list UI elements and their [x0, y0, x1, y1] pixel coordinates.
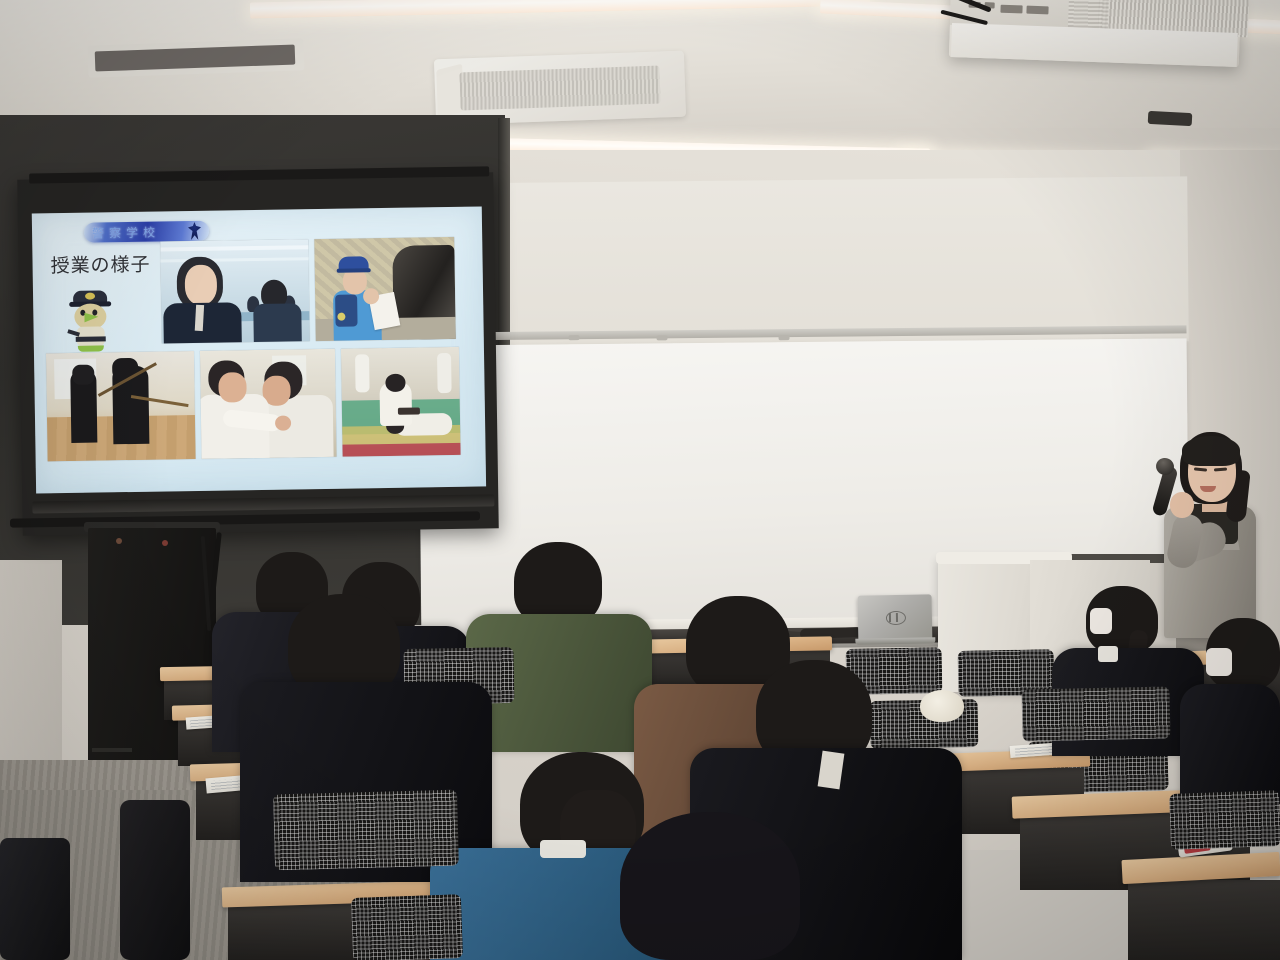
laptop-lid [858, 594, 933, 639]
slide-photo-traffic-stop [314, 237, 456, 341]
whiteboard-clip [568, 335, 579, 340]
slide-banner-label: 警察学校 [92, 223, 200, 242]
audience-head [620, 812, 800, 960]
list-item [1180, 684, 1280, 804]
indicator-led [162, 540, 168, 546]
hp-laptop[interactable] [858, 594, 933, 645]
chair-back[interactable] [273, 790, 459, 871]
ceiling-projector [949, 0, 1241, 67]
floor-bag [120, 800, 190, 960]
chair-back[interactable] [1169, 790, 1280, 850]
projector-port [1026, 6, 1048, 15]
face-mask-icon [1206, 648, 1232, 676]
slide-photo-kendo [46, 351, 196, 461]
hp-logo-stroke [896, 613, 898, 622]
projector-port [1000, 5, 1022, 14]
floor-bag [0, 838, 70, 960]
projection-screen: 警察学校 授業の様子 [17, 172, 499, 535]
projected-slide: 警察学校 授業の様子 [32, 206, 486, 493]
hp-logo-stroke [889, 613, 891, 622]
projector-vent [1068, 0, 1109, 28]
screen-bottom-bar [32, 494, 494, 513]
mascot-eye [92, 310, 97, 316]
shirt-collar [1098, 646, 1118, 662]
laptop-base [855, 637, 935, 644]
indicator-led [116, 538, 122, 544]
mascot-feet [78, 345, 104, 351]
slide-title: 授業の様子 [50, 250, 150, 279]
lecture-hall-photo: 警察学校 授業の様子 [0, 0, 1280, 960]
slide-photo-classroom [160, 239, 310, 343]
presenter-hand [1170, 492, 1194, 518]
presenter-hair-front [1182, 436, 1240, 466]
mascot-belt [76, 336, 106, 341]
smoke-detector-icon [1148, 111, 1193, 126]
ac-grille [459, 66, 660, 111]
cabinet-vent [92, 748, 132, 752]
shirt-collar [540, 840, 586, 858]
desk-frame [1128, 880, 1280, 960]
whiteboard-clip [778, 335, 789, 340]
wall-above-whiteboard [419, 176, 1189, 348]
slide-photo-judo-grapple [200, 349, 337, 459]
slide-photo-judo-mat [341, 347, 461, 457]
whiteboard-clip [656, 335, 667, 340]
white-pouch [920, 690, 964, 722]
chair-back[interactable] [351, 894, 463, 960]
face-mask-icon [1090, 608, 1112, 634]
police-bird-mascot-icon [65, 290, 116, 353]
chair-back[interactable] [1021, 686, 1170, 741]
slide-banner: 警察学校 [84, 221, 209, 243]
